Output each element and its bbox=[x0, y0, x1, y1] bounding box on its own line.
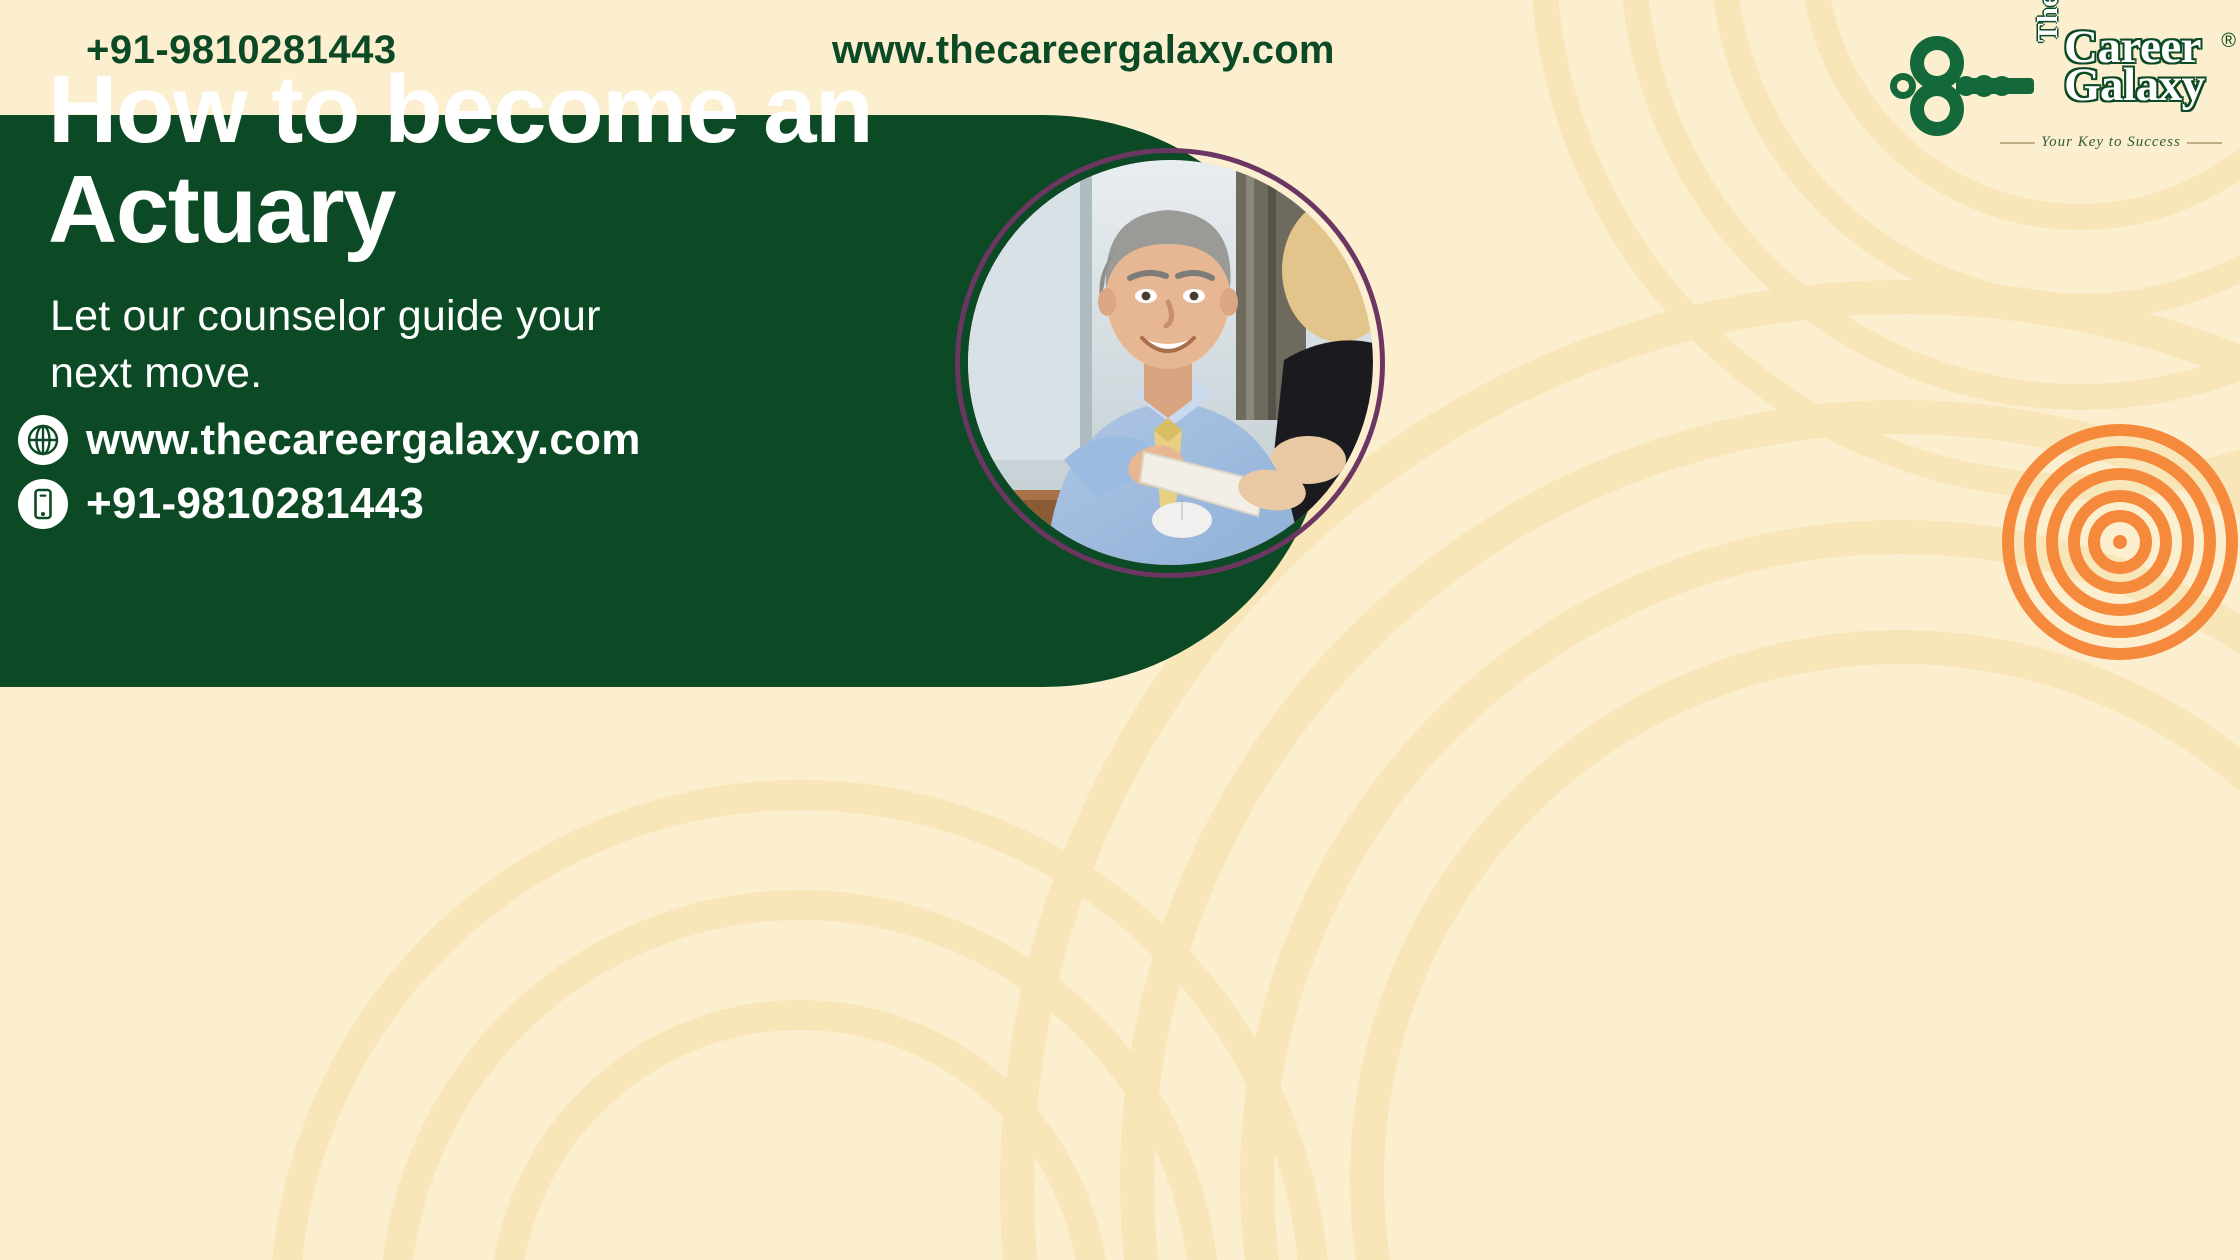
brand-logo[interactable]: The Career Galaxy ® Your Key to Success bbox=[1890, 16, 2220, 156]
key-icon bbox=[1890, 34, 2040, 143]
tagline-rule-left bbox=[2000, 142, 2035, 144]
contact-row-website[interactable]: www.thecareergalaxy.com bbox=[18, 415, 641, 465]
arc-bottom-right-1 bbox=[1350, 630, 2240, 1260]
arc-bottom-left-2 bbox=[380, 890, 1220, 1260]
logo-word-galaxy: Galaxy bbox=[2064, 64, 2222, 106]
top-contact-bar: +91-9810281443 www.thecareergalaxy.com bbox=[0, 0, 2240, 108]
arc-bottom-left-1 bbox=[490, 1000, 1110, 1260]
counselor-photo bbox=[968, 160, 1373, 565]
hero-contact-list: www.thecareergalaxy.com +91-9810281443 bbox=[18, 415, 641, 543]
logo-tagline-row: Your Key to Success bbox=[2000, 134, 2222, 151]
logo-wordmark: The Career Galaxy ® bbox=[2042, 26, 2222, 107]
registered-trademark-icon: ® bbox=[2221, 32, 2236, 50]
logo-word-the: The bbox=[2036, 0, 2061, 42]
contact-row-phone[interactable]: +91-9810281443 bbox=[18, 479, 641, 529]
arc-bottom-left-3 bbox=[270, 780, 1330, 1260]
tagline-rule-right bbox=[2187, 142, 2222, 144]
mobile-phone-icon bbox=[18, 479, 68, 529]
contact-phone-label: +91-9810281443 bbox=[86, 479, 424, 529]
top-phone-number[interactable]: +91-9810281443 bbox=[86, 28, 397, 73]
poster-canvas: +91-9810281443 www.thecareergalaxy.com bbox=[0, 0, 2240, 1260]
globe-icon bbox=[18, 415, 68, 465]
logo-tagline: Your Key to Success bbox=[2041, 134, 2181, 151]
page-subtitle: Let our counselor guide your next move. bbox=[50, 288, 690, 402]
contact-website-label: www.thecareergalaxy.com bbox=[86, 415, 641, 465]
concentric-target-icon bbox=[2002, 424, 2238, 660]
top-website-url[interactable]: www.thecareergalaxy.com bbox=[832, 28, 1335, 73]
